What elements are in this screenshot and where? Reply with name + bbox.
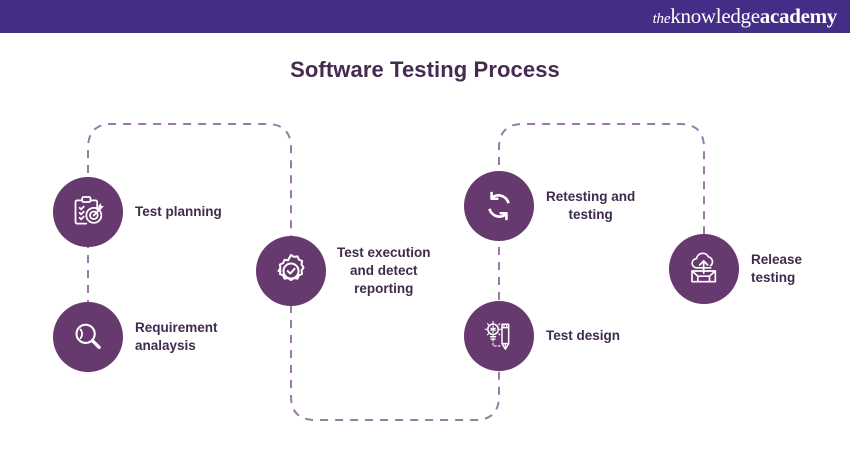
flow-node-label: Requirement analaysis bbox=[135, 319, 218, 355]
flow-node-label: Test execution and detect reporting bbox=[337, 244, 431, 297]
flow-node-test-planning[interactable]: Test planning bbox=[53, 177, 222, 247]
flow-node-label: Test design bbox=[546, 327, 620, 345]
magnifier-icon bbox=[53, 302, 123, 372]
flow-node-release-testing[interactable]: Release testing bbox=[669, 234, 802, 304]
flow-node-test-execution[interactable]: Test execution and detect reporting bbox=[256, 236, 431, 306]
flow-node-test-design[interactable]: Test design bbox=[464, 301, 620, 371]
flow-node-requirement-analysis[interactable]: Requirement analaysis bbox=[53, 302, 218, 372]
lightbulb-pencil-icon bbox=[464, 301, 534, 371]
flow-node-label: Test planning bbox=[135, 203, 222, 221]
clipboard-target-icon bbox=[53, 177, 123, 247]
refresh-arrows-icon bbox=[464, 171, 534, 241]
diagram-page: theknowledgeacademy Software Testing Pro… bbox=[0, 0, 850, 450]
flow-node-label: Retesting and testing bbox=[546, 188, 635, 224]
cloud-upload-box-icon bbox=[669, 234, 739, 304]
flow-node-label: Release testing bbox=[751, 251, 802, 287]
gear-check-icon bbox=[256, 236, 326, 306]
flow-node-retesting[interactable]: Retesting and testing bbox=[464, 171, 635, 241]
